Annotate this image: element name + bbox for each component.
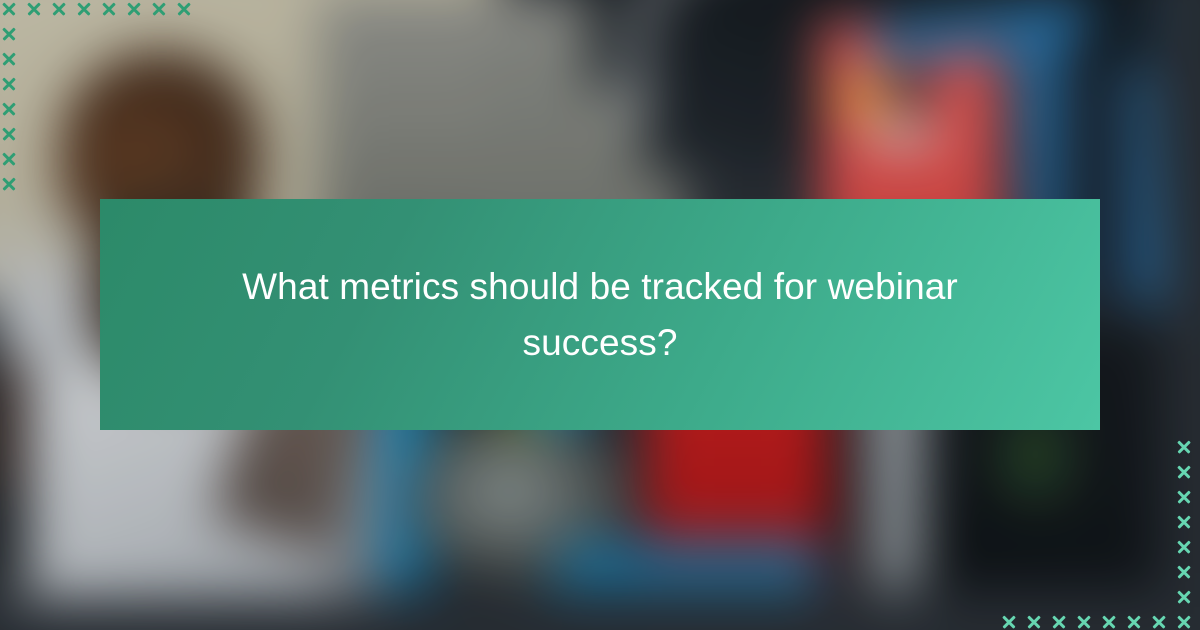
page-title: What metrics should be tracked for webin… bbox=[220, 259, 980, 371]
share-card: What metrics should be tracked for webin… bbox=[0, 0, 1200, 630]
headline-banner: What metrics should be tracked for webin… bbox=[100, 199, 1100, 430]
